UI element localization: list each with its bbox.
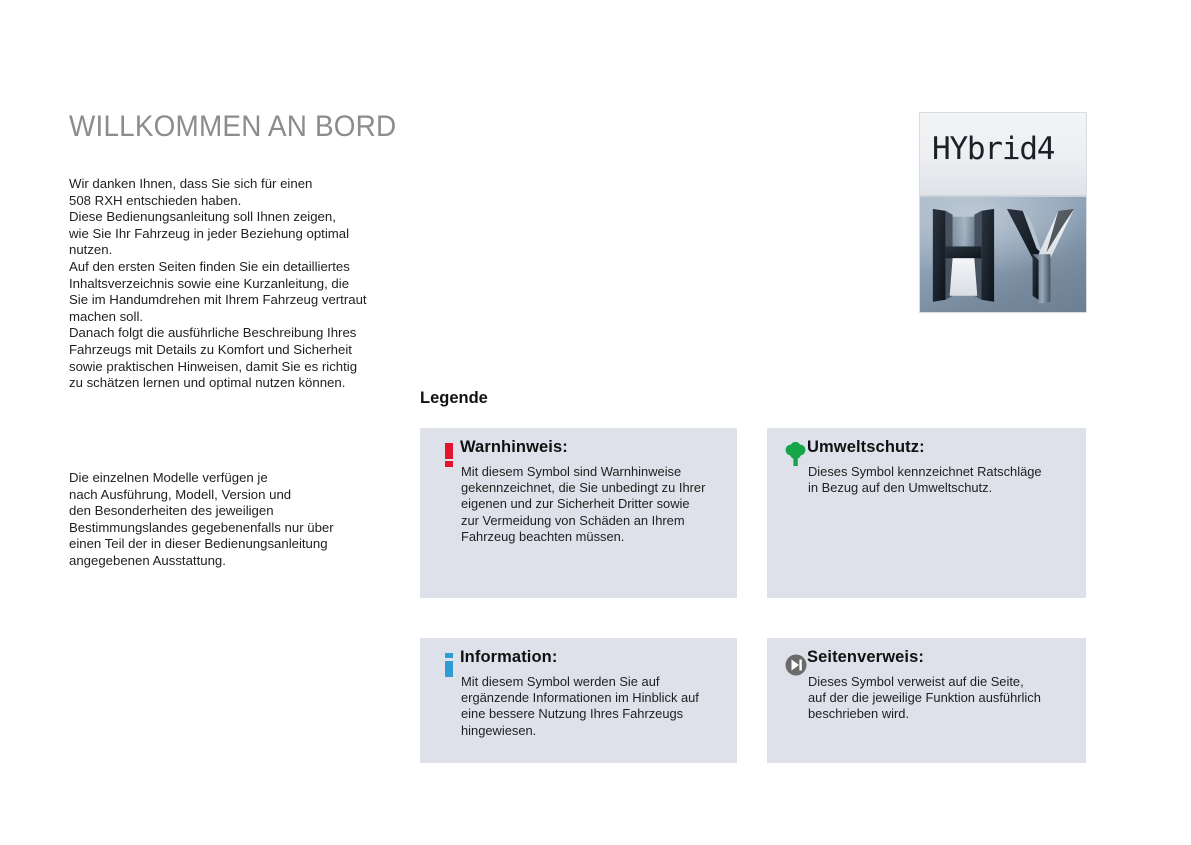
legend-card-heading: Seitenverweis: xyxy=(807,648,924,667)
legend-heading: Legende xyxy=(420,389,488,408)
logo-top-panel: HYbrid4 xyxy=(920,113,1086,196)
logo-wordmark: HYbrid4 xyxy=(932,131,1054,167)
page-title: WILLKOMMEN AN BORD xyxy=(69,110,396,144)
legend-card-heading: Warnhinweis: xyxy=(460,438,568,457)
legend-card-body: Dieses Symbol kennzeichnet Ratschläge in… xyxy=(808,464,1078,496)
legend-card-information: Information: Mit diesem Symbol werden Si… xyxy=(420,638,737,763)
legend-card-body: Mit diesem Symbol werden Sie auf ergänze… xyxy=(461,674,729,739)
legend-card-heading: Umweltschutz: xyxy=(807,438,925,457)
legend-card-heading: Information: xyxy=(460,648,557,667)
intro-paragraph-primary: Wir danken Ihnen, dass Sie sich für eine… xyxy=(69,176,404,392)
logo-bottom-panel xyxy=(920,197,1086,312)
legend-card-environment: Umweltschutz: Dieses Symbol kennzeichnet… xyxy=(767,428,1086,598)
legend-card-pagelink: Seitenverweis: Dieses Symbol verweist au… xyxy=(767,638,1086,763)
hy-monogram-icon xyxy=(920,197,1086,313)
legend-card-warning: Warnhinweis: Mit diesem Symbol sind Warn… xyxy=(420,428,737,598)
legend-card-body: Mit diesem Symbol sind Warnhinweise geke… xyxy=(461,464,729,545)
hybrid4-logo: HYbrid4 xyxy=(919,112,1087,313)
legend-card-body: Dieses Symbol verweist auf die Seite, au… xyxy=(808,674,1078,723)
intro-paragraph-secondary: Die einzelnen Modelle verfügen je nach A… xyxy=(69,470,404,570)
